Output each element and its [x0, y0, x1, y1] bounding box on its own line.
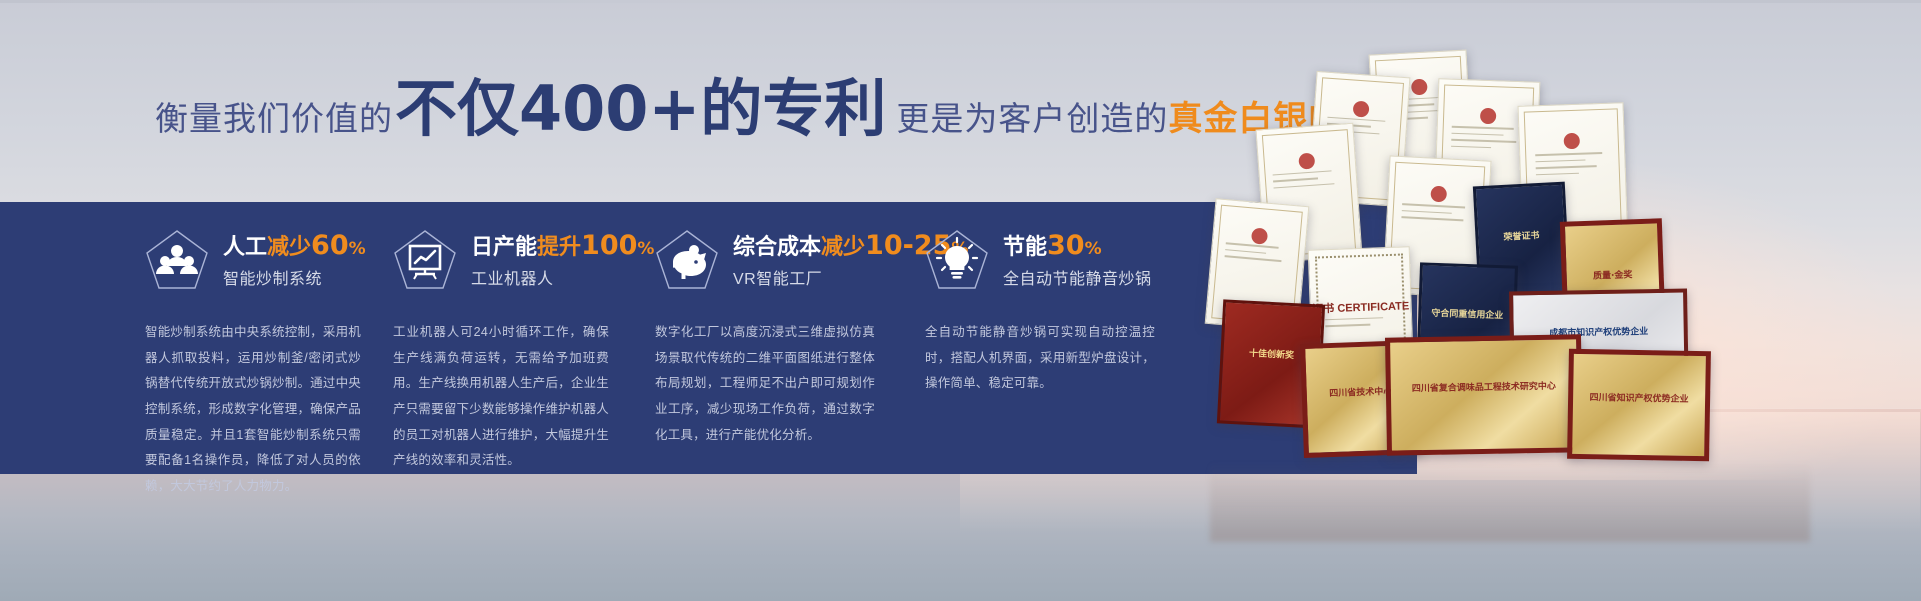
feature-card-title: 节能30% — [1003, 231, 1152, 261]
feature-card-subtitle: 全自动节能静音炒锅 — [1003, 265, 1152, 289]
headline-middle: 更是为客户创造的 — [896, 92, 1168, 140]
title-unit: % — [349, 239, 366, 259]
feature-card-subtitle: 智能炒制系统 — [223, 265, 366, 289]
certificate-stack: 荣誉证书 质量·金奖 证书 CERTIFICATE 守合同重信用企业 成都市知识… — [1190, 52, 1830, 472]
feature-card-header: 综合成本减少10-25% VR智能工厂 — [655, 222, 957, 298]
feature-card-energy: 节能30% 全自动节能静音炒锅 全自动节能静音炒锅可实现自动控温控时，搭配人机界… — [925, 222, 1227, 397]
feature-card-header: 日产能提升100% 工业机器人 — [393, 222, 695, 298]
title-prefix: 人工 — [223, 235, 267, 260]
certificate-item: 四川省复合调味品工程技术研究中心 — [1385, 334, 1583, 455]
certificate-label: 质量·金奖 — [1574, 268, 1652, 284]
title-highlight: 提升 — [537, 235, 581, 260]
title-unit: % — [637, 239, 654, 259]
lightbulb-icon — [925, 229, 989, 291]
people-group-icon — [145, 229, 209, 291]
top-rule — [0, 0, 1921, 3]
feature-card-body: 工业机器人可24小时循环工作，确保生产线满负荷运转，无需给予加班费用。生产线换用… — [393, 320, 609, 474]
feature-card-cost: 综合成本减少10-25% VR智能工厂 数字化工厂以高度沉浸式三维虚拟仿真场景取… — [655, 222, 957, 448]
certificate-item: 四川省知识产权优势企业 — [1567, 349, 1711, 461]
title-number: 100 — [581, 230, 637, 261]
title-prefix: 节能 — [1003, 235, 1047, 260]
chart-board-icon — [393, 229, 457, 291]
feature-card-capacity: 日产能提升100% 工业机器人 工业机器人可24小时循环工作，确保生产线满负荷运… — [393, 222, 695, 474]
certificate-label: 四川省复合调味品工程技术研究中心 — [1406, 381, 1562, 397]
headline-emphasis: 不仅400+的专利 — [395, 78, 886, 140]
feature-card-body: 数字化工厂以高度沉浸式三维虚拟仿真场景取代传统的二维平面图纸进行整体布局规划，工… — [655, 320, 875, 448]
title-unit: % — [1085, 239, 1102, 259]
piggy-bank-icon — [655, 229, 719, 291]
headline-lead: 衡量我们价值的 — [155, 92, 393, 140]
feature-card-subtitle: 工业机器人 — [471, 265, 654, 289]
title-prefix: 日产能 — [471, 235, 537, 260]
title-highlight: 减少 — [267, 235, 311, 260]
title-highlight: 减少 — [821, 235, 865, 260]
feature-card-title: 日产能提升100% — [471, 231, 654, 261]
feature-card-body: 智能炒制系统由中央系统控制，采用机器人抓取投料，运用炒制釜/密闭式炒锅替代传统开… — [145, 320, 361, 499]
title-prefix: 综合成本 — [733, 235, 821, 260]
feature-card-header: 节能30% 全自动节能静音炒锅 — [925, 222, 1227, 298]
title-number: 30 — [1047, 230, 1085, 261]
feature-card-body: 全自动节能静音炒锅可实现自动控温控时，搭配人机界面，采用新型炉盘设计，操作简单、… — [925, 320, 1155, 397]
banner-stage: 衡量我们价值的 不仅400+的专利 更是为客户创造的 真金白银的效益 — [0, 0, 1921, 601]
title-number: 60 — [311, 230, 349, 261]
certificate-label: 四川省知识产权优势企业 — [1584, 392, 1695, 407]
certificate-label: 荣誉证书 — [1485, 228, 1558, 246]
feature-card-title: 人工减少60% — [223, 231, 366, 261]
certificate-label: 守合同重信用企业 — [1428, 306, 1506, 323]
